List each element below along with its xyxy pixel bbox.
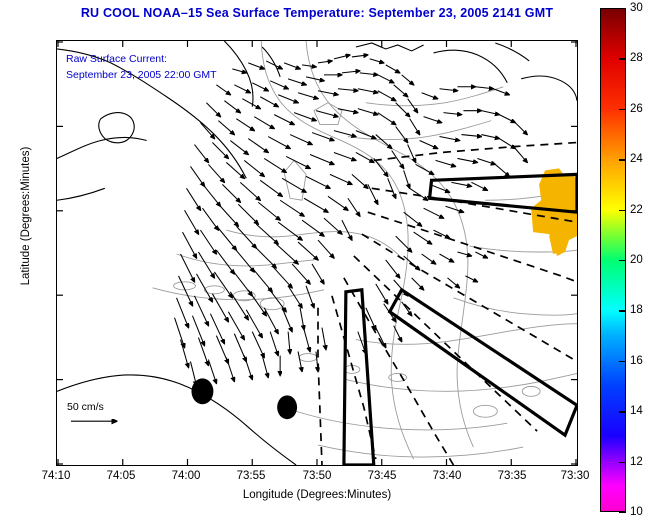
colorbar-tick-2: 26 bbox=[630, 103, 643, 115]
scale-arrow-label: 50 cm/s bbox=[67, 401, 104, 413]
colorbar-tickmark-10 bbox=[619, 512, 626, 513]
colorbar-tickmark-6 bbox=[619, 310, 626, 311]
colorbar-tickmark-9 bbox=[619, 462, 626, 463]
x-tick-3: 73:55 bbox=[221, 470, 281, 482]
colorbar-tick-8: 14 bbox=[630, 405, 643, 417]
annotation-line-2: September 23, 2005 22:00 GMT bbox=[66, 69, 217, 81]
colorbar-tickmark-5 bbox=[619, 260, 626, 261]
x-tick-1: 74:05 bbox=[91, 470, 151, 482]
radar-station-markers bbox=[191, 378, 297, 419]
x-tick-4: 73:50 bbox=[287, 470, 347, 482]
colorbar-tickmark-8 bbox=[619, 411, 626, 412]
radar-station-east bbox=[277, 395, 297, 419]
colorbar-tickmark-3 bbox=[619, 159, 626, 160]
bathymetry-contours bbox=[153, 41, 577, 459]
colorbar-tick-9: 12 bbox=[630, 456, 643, 468]
colorbar-tick-4: 22 bbox=[630, 204, 643, 216]
figure-title: RU COOL NOAA–15 Sea Surface Temperature:… bbox=[56, 6, 578, 20]
colorbar-tickmark-2 bbox=[619, 109, 626, 110]
colorbar-tick-0: 30 bbox=[630, 2, 643, 14]
colorbar-tick-3: 24 bbox=[630, 153, 643, 165]
figure-canvas: RU COOL NOAA–15 Sea Surface Temperature:… bbox=[0, 0, 651, 518]
colorbar-tickmark-4 bbox=[619, 210, 626, 211]
colorbar-tickmark-0 bbox=[619, 8, 626, 9]
colorbar-tick-1: 28 bbox=[630, 52, 643, 64]
map-vector-layer bbox=[57, 41, 577, 465]
colorbar-tick-7: 16 bbox=[630, 355, 643, 367]
x-axis-label: Longitude (Degrees:Minutes) bbox=[56, 489, 578, 501]
x-tick-8: 73:30 bbox=[545, 470, 605, 482]
y-axis-label: Latitude (Degrees:Minutes) bbox=[20, 106, 32, 326]
colorbar-tickmark-7 bbox=[619, 361, 626, 362]
x-tick-7: 73:35 bbox=[482, 470, 542, 482]
colorbar-tick-10: 10 bbox=[630, 506, 643, 518]
radar-station-west bbox=[191, 378, 213, 404]
coastline bbox=[57, 41, 577, 465]
colorbar-tick-6: 18 bbox=[630, 304, 643, 316]
colorbar-tickmark-1 bbox=[619, 58, 626, 59]
map-plot-area[interactable]: Raw Surface Current: September 23, 2005 … bbox=[56, 40, 578, 466]
x-tick-0: 74:10 bbox=[26, 470, 86, 482]
x-tick-5: 73:45 bbox=[352, 470, 412, 482]
colorbar-tick-5: 20 bbox=[630, 254, 643, 266]
x-tick-2: 74:00 bbox=[156, 470, 216, 482]
annotation-line-1: Raw Surface Current: bbox=[66, 53, 167, 65]
x-tick-6: 73:40 bbox=[417, 470, 477, 482]
